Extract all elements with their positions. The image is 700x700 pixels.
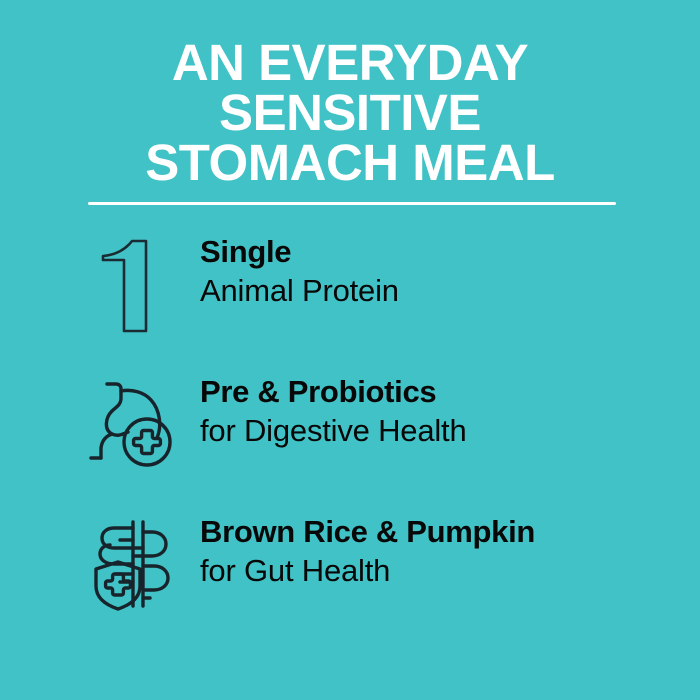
feature-subtitle: for Digestive Health bbox=[200, 411, 700, 450]
feature-subtitle: for Gut Health bbox=[200, 551, 700, 590]
feature-title: Pre & Probiotics bbox=[200, 372, 700, 411]
feature-row: Brown Rice & Pumpkin for Gut Health bbox=[0, 512, 700, 652]
feature-row: Pre & Probiotics for Digestive Health bbox=[0, 372, 700, 512]
feature-text: Brown Rice & Pumpkin for Gut Health bbox=[188, 512, 700, 590]
page-title-line-1: AN EVERYDAY bbox=[0, 38, 700, 88]
feature-text: Single Animal Protein bbox=[188, 232, 700, 310]
page-title-line-2: SENSITIVE bbox=[0, 88, 700, 138]
stomach-with-medical-cross-icon bbox=[88, 372, 188, 470]
title-divider bbox=[88, 202, 616, 205]
feature-title: Brown Rice & Pumpkin bbox=[200, 512, 700, 551]
feature-list: Single Animal Protein P bbox=[0, 232, 700, 652]
intestine-with-shield-cross-icon bbox=[88, 512, 188, 610]
page-title-line-3: STOMACH MEAL bbox=[0, 138, 700, 188]
feature-title: Single bbox=[200, 232, 700, 271]
page-title: AN EVERYDAY SENSITIVE STOMACH MEAL bbox=[0, 38, 700, 188]
infographic-panel: AN EVERYDAY SENSITIVE STOMACH MEAL Singl… bbox=[0, 0, 700, 700]
feature-text: Pre & Probiotics for Digestive Health bbox=[188, 372, 700, 450]
feature-subtitle: Animal Protein bbox=[200, 271, 700, 310]
feature-row: Single Animal Protein bbox=[0, 232, 700, 372]
number-one-outline-icon bbox=[88, 232, 188, 334]
